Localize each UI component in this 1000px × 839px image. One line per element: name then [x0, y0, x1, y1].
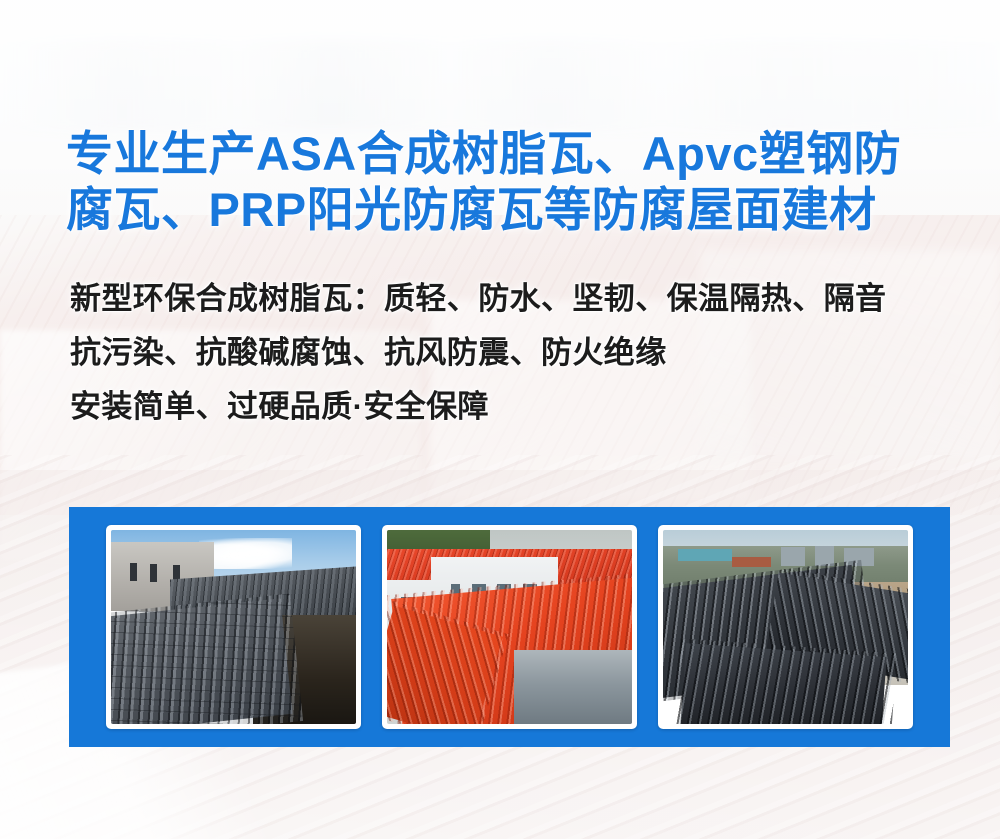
banner-content: 专业生产ASA合成树脂瓦、Apvc塑钢防 腐瓦、PRP阳光防腐瓦等防腐屋面建材 …	[0, 0, 1000, 839]
photo1-main-roof-ribs	[111, 593, 303, 724]
photo3-red-roof	[732, 557, 771, 567]
photo-frame	[663, 530, 908, 724]
photo-frame	[387, 530, 632, 724]
photo-frame	[111, 530, 356, 724]
banner-subtitle: 新型环保合成树脂瓦：质轻、防水、坚韧、保温隔热、隔音 抗污染、抗酸碱腐蚀、抗风防…	[70, 272, 970, 434]
photo3-teal-roof	[678, 549, 732, 561]
gallery-photo-grey-roof[interactable]	[106, 525, 361, 729]
photo2-lower-building	[514, 650, 632, 724]
subtitle-line-1: 新型环保合成树脂瓦：质轻、防水、坚韧、保温隔热、隔音	[70, 272, 970, 326]
gallery-photo-black-roof[interactable]	[658, 525, 913, 729]
banner-headline: 专业生产ASA合成树脂瓦、Apvc塑钢防 腐瓦、PRP阳光防腐瓦等防腐屋面建材	[66, 126, 946, 238]
product-banner: 专业生产ASA合成树脂瓦、Apvc塑钢防 腐瓦、PRP阳光防腐瓦等防腐屋面建材 …	[0, 0, 1000, 839]
photo3-lower-roof-tiles	[675, 639, 896, 724]
subtitle-line-3: 安装简单、过硬品质·安全保障	[70, 380, 970, 434]
photo-gallery-panel	[69, 507, 950, 747]
subtitle-line-2: 抗污染、抗酸碱腐蚀、抗风防震、防火绝缘	[70, 326, 970, 380]
gallery-photo-red-roof[interactable]	[382, 525, 637, 729]
